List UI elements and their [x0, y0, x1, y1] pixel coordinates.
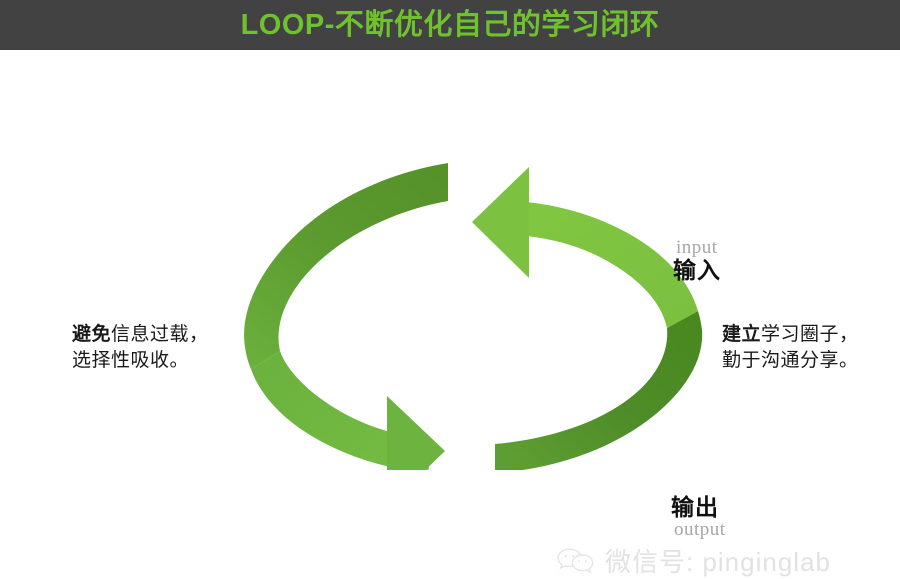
node-label-output-cn: 输出: [671, 496, 726, 519]
note-left-line1-rest: 信息过载，: [111, 324, 209, 345]
loop-diagram: input 输入 输出 output: [230, 110, 720, 470]
note-left-line1: 避免信息过载，: [72, 322, 209, 348]
page-title: LOOP-不断优化自己的学习闭环: [241, 11, 660, 40]
wechat-icon: [556, 546, 596, 576]
node-label-output: 输出 output: [671, 496, 726, 540]
loop-diagram-final: [230, 110, 720, 470]
title-bar: LOOP-不断优化自己的学习闭环: [0, 0, 900, 50]
slide-body: input 输入 输出 output 避免信息过载， 选择性吸收。 建立学习圈子…: [0, 50, 900, 562]
note-left: 避免信息过载， 选择性吸收。: [72, 322, 209, 374]
note-left-line2: 选择性吸收。: [72, 348, 209, 374]
note-right-line1: 建立学习圈子，: [722, 322, 859, 348]
note-right-line1-rest: 学习圈子，: [761, 324, 859, 345]
watermark: 微信号: pinginglab: [556, 542, 831, 579]
note-right-line1-bold: 建立: [722, 324, 761, 345]
watermark-text: 微信号: pinginglab: [605, 542, 831, 579]
note-right-line2: 勤于沟通分享。: [722, 348, 859, 374]
node-label-input-cn: 输入: [673, 259, 721, 282]
node-label-input-en: input: [676, 238, 721, 257]
node-label-output-en: output: [674, 520, 726, 539]
node-label-input: input 输入: [673, 238, 721, 283]
note-right: 建立学习圈子， 勤于沟通分享。: [722, 322, 859, 374]
note-left-line1-bold: 避免: [72, 324, 111, 345]
